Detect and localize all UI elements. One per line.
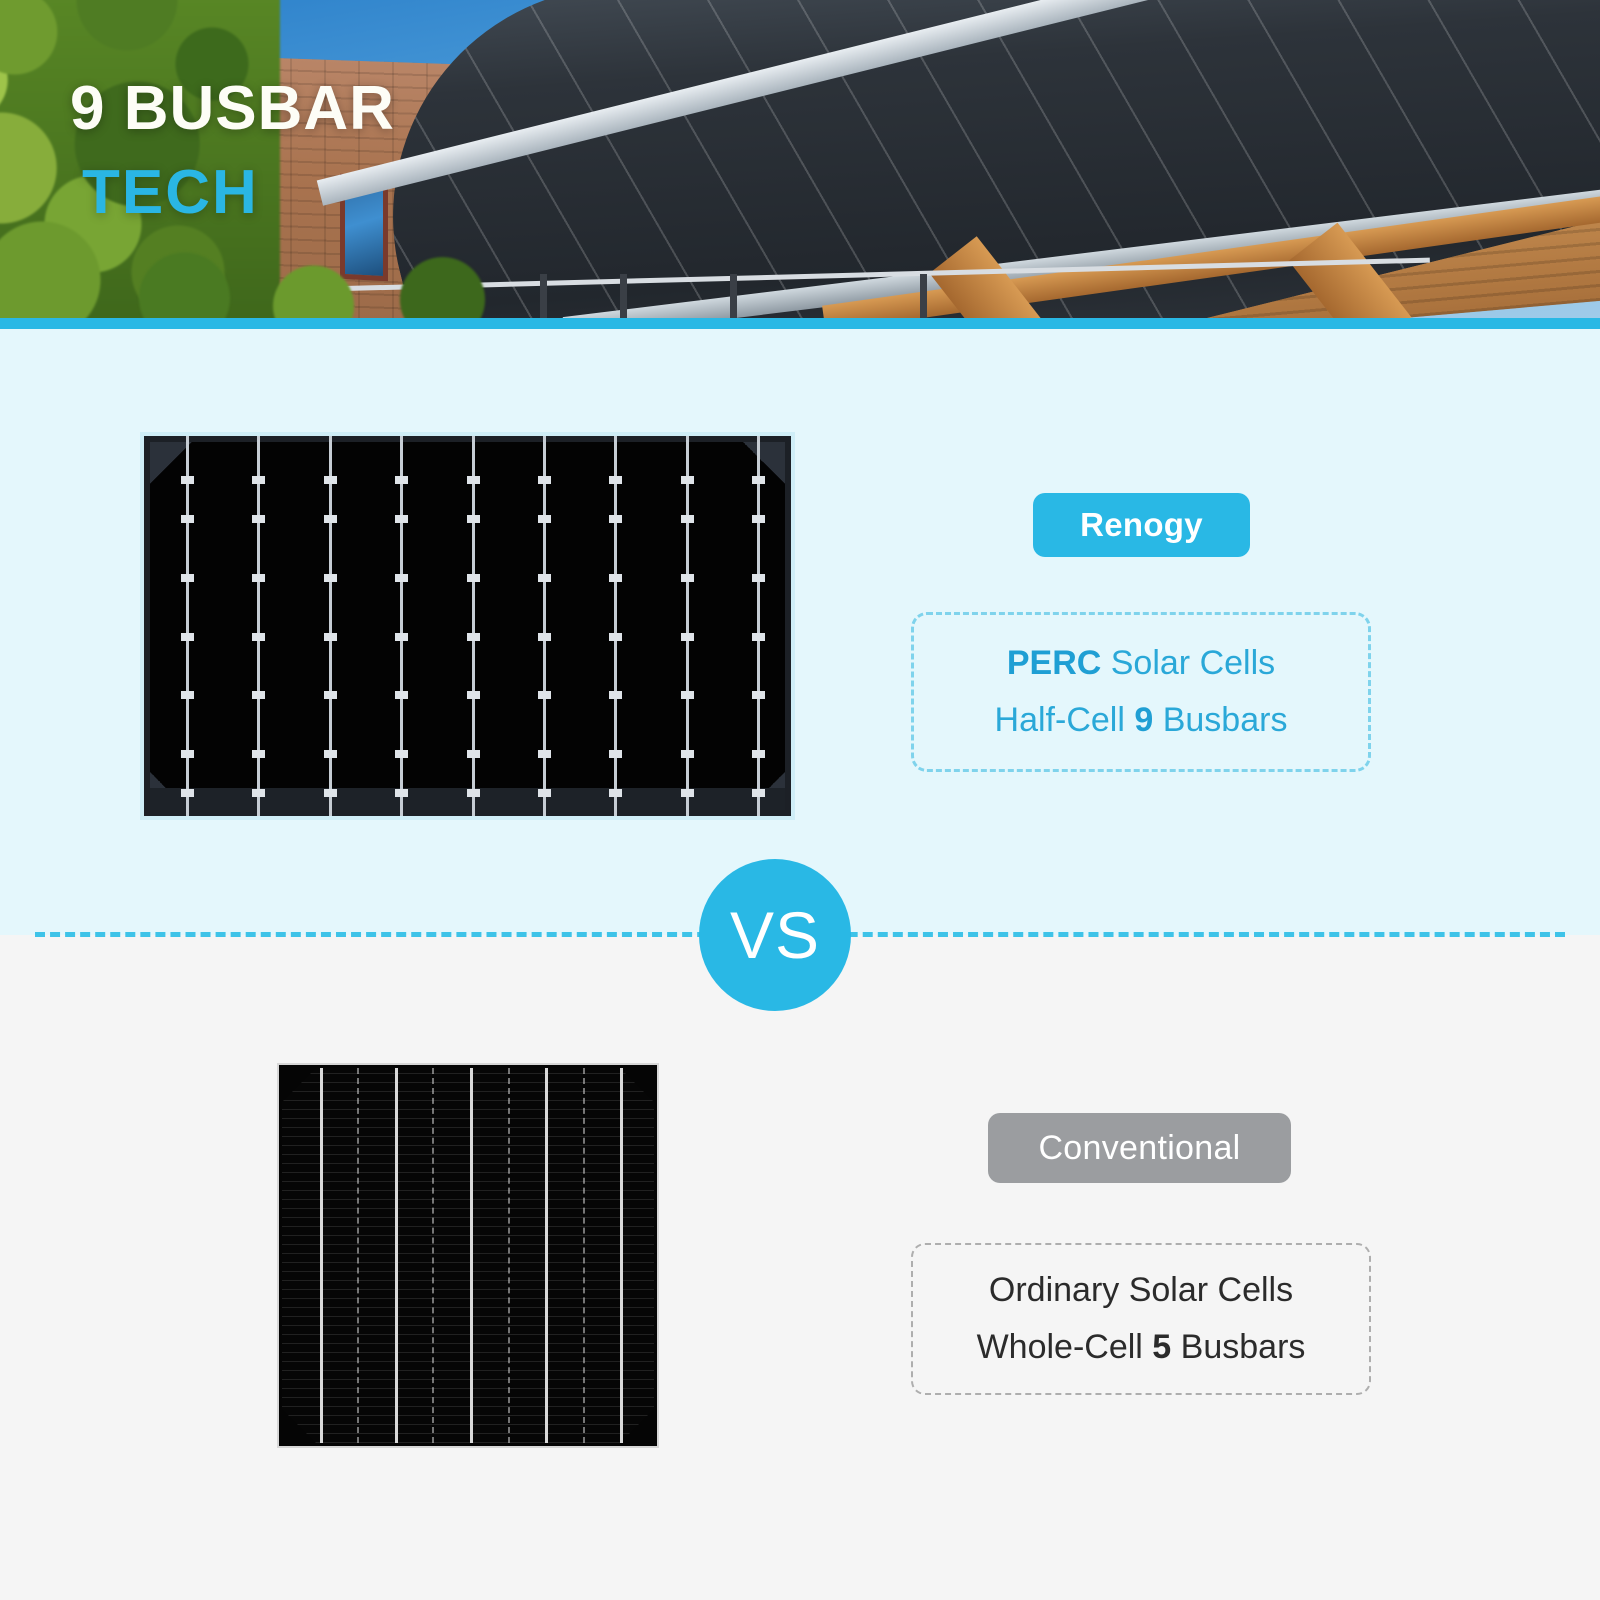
busbar-solder-pad [467, 476, 480, 484]
busbar-line [757, 436, 760, 816]
hero-title-line-1: 9 BUSBAR [70, 78, 395, 140]
busbar-solder-pad [752, 476, 765, 484]
busbar-solder-pad [252, 691, 265, 699]
busbar-solder-pad [752, 633, 765, 641]
busbar-dashed-finger [658, 1068, 659, 1443]
busbar-line [329, 436, 332, 816]
busbar-dashed-finger [583, 1068, 585, 1443]
busbar-line [472, 436, 475, 816]
busbar-solder-pad [252, 476, 265, 484]
busbar-solder-pad [395, 789, 408, 797]
busbar-solder-pad [681, 691, 694, 699]
busbar-solder-pad [681, 789, 694, 797]
conventional-feature-2-rest: Busbars [1171, 1328, 1305, 1366]
busbar-solder-pad [538, 574, 551, 582]
busbar-solder-pad [609, 515, 622, 523]
busbar-solder-pad [395, 515, 408, 523]
busbar-solder-pad [538, 476, 551, 484]
busbar-solder-pad [395, 574, 408, 582]
busbar-solder-pad [252, 574, 265, 582]
renogy-feature-box: PERC Solar Cells Half-Cell 9 Busbars [911, 612, 1371, 772]
busbar-line [186, 436, 189, 816]
conventional-5-busbar-panel [277, 1063, 659, 1448]
busbar-solder-pad [324, 476, 337, 484]
renogy-feature-2-rest: Busbars [1153, 701, 1287, 739]
renogy-feature-1-bold: PERC [1007, 644, 1101, 682]
renogy-badge: Renogy [1033, 493, 1250, 557]
busbar-dashed-finger [508, 1068, 510, 1443]
busbar-solder-pad [181, 515, 194, 523]
rail-post-4 [920, 274, 927, 318]
busbar-solder-pad [609, 476, 622, 484]
shrub-foliage [120, 250, 550, 318]
renogy-feature-2-pre: Half-Cell [995, 701, 1135, 739]
busbar-line [470, 1068, 473, 1443]
busbar-solder-pad [681, 476, 694, 484]
busbar-solder-pad [681, 750, 694, 758]
busbar-solder-pad [681, 515, 694, 523]
cyan-accent-bar [0, 318, 1600, 329]
busbar-solder-pad [609, 574, 622, 582]
renogy-feature-2: Half-Cell 9 Busbars [995, 701, 1288, 740]
conventional-feature-box: Ordinary Solar Cells Whole-Cell 5 Busbar… [911, 1243, 1371, 1395]
busbar-solder-pad [752, 515, 765, 523]
conventional-feature-2-pre: Whole-Cell [977, 1328, 1153, 1366]
busbar-solder-pad [395, 750, 408, 758]
busbar-solder-pad [538, 633, 551, 641]
busbar-line [257, 436, 260, 816]
busbar-solder-pad [609, 633, 622, 641]
busbar-solder-pad [395, 633, 408, 641]
busbar-solder-pad [609, 750, 622, 758]
renogy-feature-1-rest: Solar Cells [1101, 644, 1275, 682]
busbar-solder-pad [395, 476, 408, 484]
busbar-line [543, 436, 546, 816]
busbar-solder-pad [324, 633, 337, 641]
hero-title-line-2: TECH [82, 162, 395, 224]
conventional-feature-2: Whole-Cell 5 Busbars [977, 1328, 1306, 1367]
busbar-solder-pad [181, 789, 194, 797]
conventional-badge: Conventional [988, 1113, 1291, 1183]
renogy-feature-1: PERC Solar Cells [1007, 644, 1275, 683]
rail-post-2 [620, 274, 627, 318]
busbar-solder-pad [252, 750, 265, 758]
busbar-solder-pad [538, 515, 551, 523]
busbar-solder-pad [324, 691, 337, 699]
busbar-solder-pad [467, 633, 480, 641]
busbar-solder-pad [181, 750, 194, 758]
busbar-solder-pad [538, 750, 551, 758]
busbar-solder-pad [681, 574, 694, 582]
conventional-feature-2-bold: 5 [1152, 1328, 1171, 1366]
busbar-solder-pad [181, 691, 194, 699]
busbar-solder-pad [752, 574, 765, 582]
busbar-solder-pad [324, 574, 337, 582]
busbar-solder-pad [252, 633, 265, 641]
busbar-solder-pad [467, 750, 480, 758]
busbar-line [320, 1068, 323, 1443]
busbar-dashed-finger [432, 1068, 434, 1443]
conventional-feature-1-rest: Ordinary Solar Cells [989, 1271, 1293, 1309]
busbar-solder-pad [395, 691, 408, 699]
busbar-solder-pad [467, 574, 480, 582]
busbar-solder-pad [181, 476, 194, 484]
busbar-solder-pad [181, 574, 194, 582]
busbar-solder-pad [681, 633, 694, 641]
busbar-solder-pad [752, 789, 765, 797]
busbar-line [620, 1068, 623, 1443]
renogy-9-busbar-panel [140, 432, 795, 820]
busbar-solder-pad [324, 789, 337, 797]
vs-badge: VS [699, 859, 851, 1011]
busbar-line [545, 1068, 548, 1443]
busbar-solder-pad [181, 633, 194, 641]
busbar-solder-pad [252, 789, 265, 797]
busbar-solder-pad [252, 515, 265, 523]
busbar-solder-pad [609, 691, 622, 699]
conventional-cell-surface [282, 1068, 654, 1443]
busbar-solder-pad [538, 691, 551, 699]
busbar-dashed-finger [357, 1068, 359, 1443]
busbar-solder-pad [752, 691, 765, 699]
conventional-feature-1: Ordinary Solar Cells [989, 1271, 1293, 1310]
busbar-line [395, 1068, 398, 1443]
busbar-solder-pad [467, 789, 480, 797]
busbar-solder-pad [324, 750, 337, 758]
busbar-solder-pad [467, 691, 480, 699]
busbar-solder-pad [324, 515, 337, 523]
hero-banner: 9 BUSBAR TECH [0, 0, 1600, 318]
renogy-feature-2-bold: 9 [1134, 701, 1153, 739]
rail-post-3 [730, 274, 737, 318]
busbar-line [686, 436, 689, 816]
hero-title-group: 9 BUSBAR TECH [70, 78, 395, 224]
busbar-line [400, 436, 403, 816]
busbar-solder-pad [609, 789, 622, 797]
busbar-line [614, 436, 617, 816]
busbar-solder-pad [752, 750, 765, 758]
busbar-solder-pad [538, 789, 551, 797]
busbar-solder-pad [467, 515, 480, 523]
